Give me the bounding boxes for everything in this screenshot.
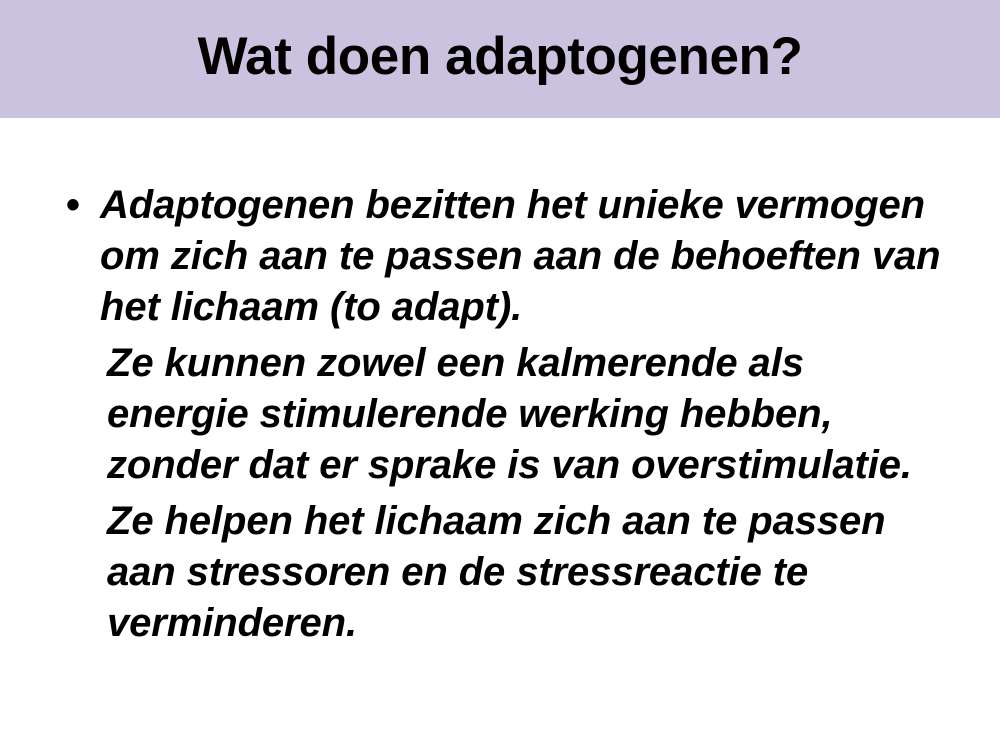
slide-body: • Adaptogenen bezitten het unieke vermog…: [0, 118, 1000, 750]
list-item: Ze helpen het lichaam zich aan te passen…: [62, 496, 952, 649]
bullet-list: • Adaptogenen bezitten het unieke vermog…: [62, 180, 952, 649]
list-item-text: Adaptogenen bezitten het unieke vermogen…: [100, 183, 941, 329]
page-title: Wat doen adaptogenen?: [197, 29, 802, 85]
list-item: Ze kunnen zowel een kalmerende als energ…: [62, 338, 952, 491]
list-item: • Adaptogenen bezitten het unieke vermog…: [62, 180, 952, 333]
list-item-text: Ze helpen het lichaam zich aan te passen…: [107, 499, 885, 645]
slide: Wat doen adaptogenen? • Adaptogenen bezi…: [0, 0, 1000, 750]
bullet-icon: •: [66, 180, 90, 231]
title-band: Wat doen adaptogenen?: [0, 0, 1000, 118]
list-item-text: Ze kunnen zowel een kalmerende als energ…: [107, 341, 912, 487]
